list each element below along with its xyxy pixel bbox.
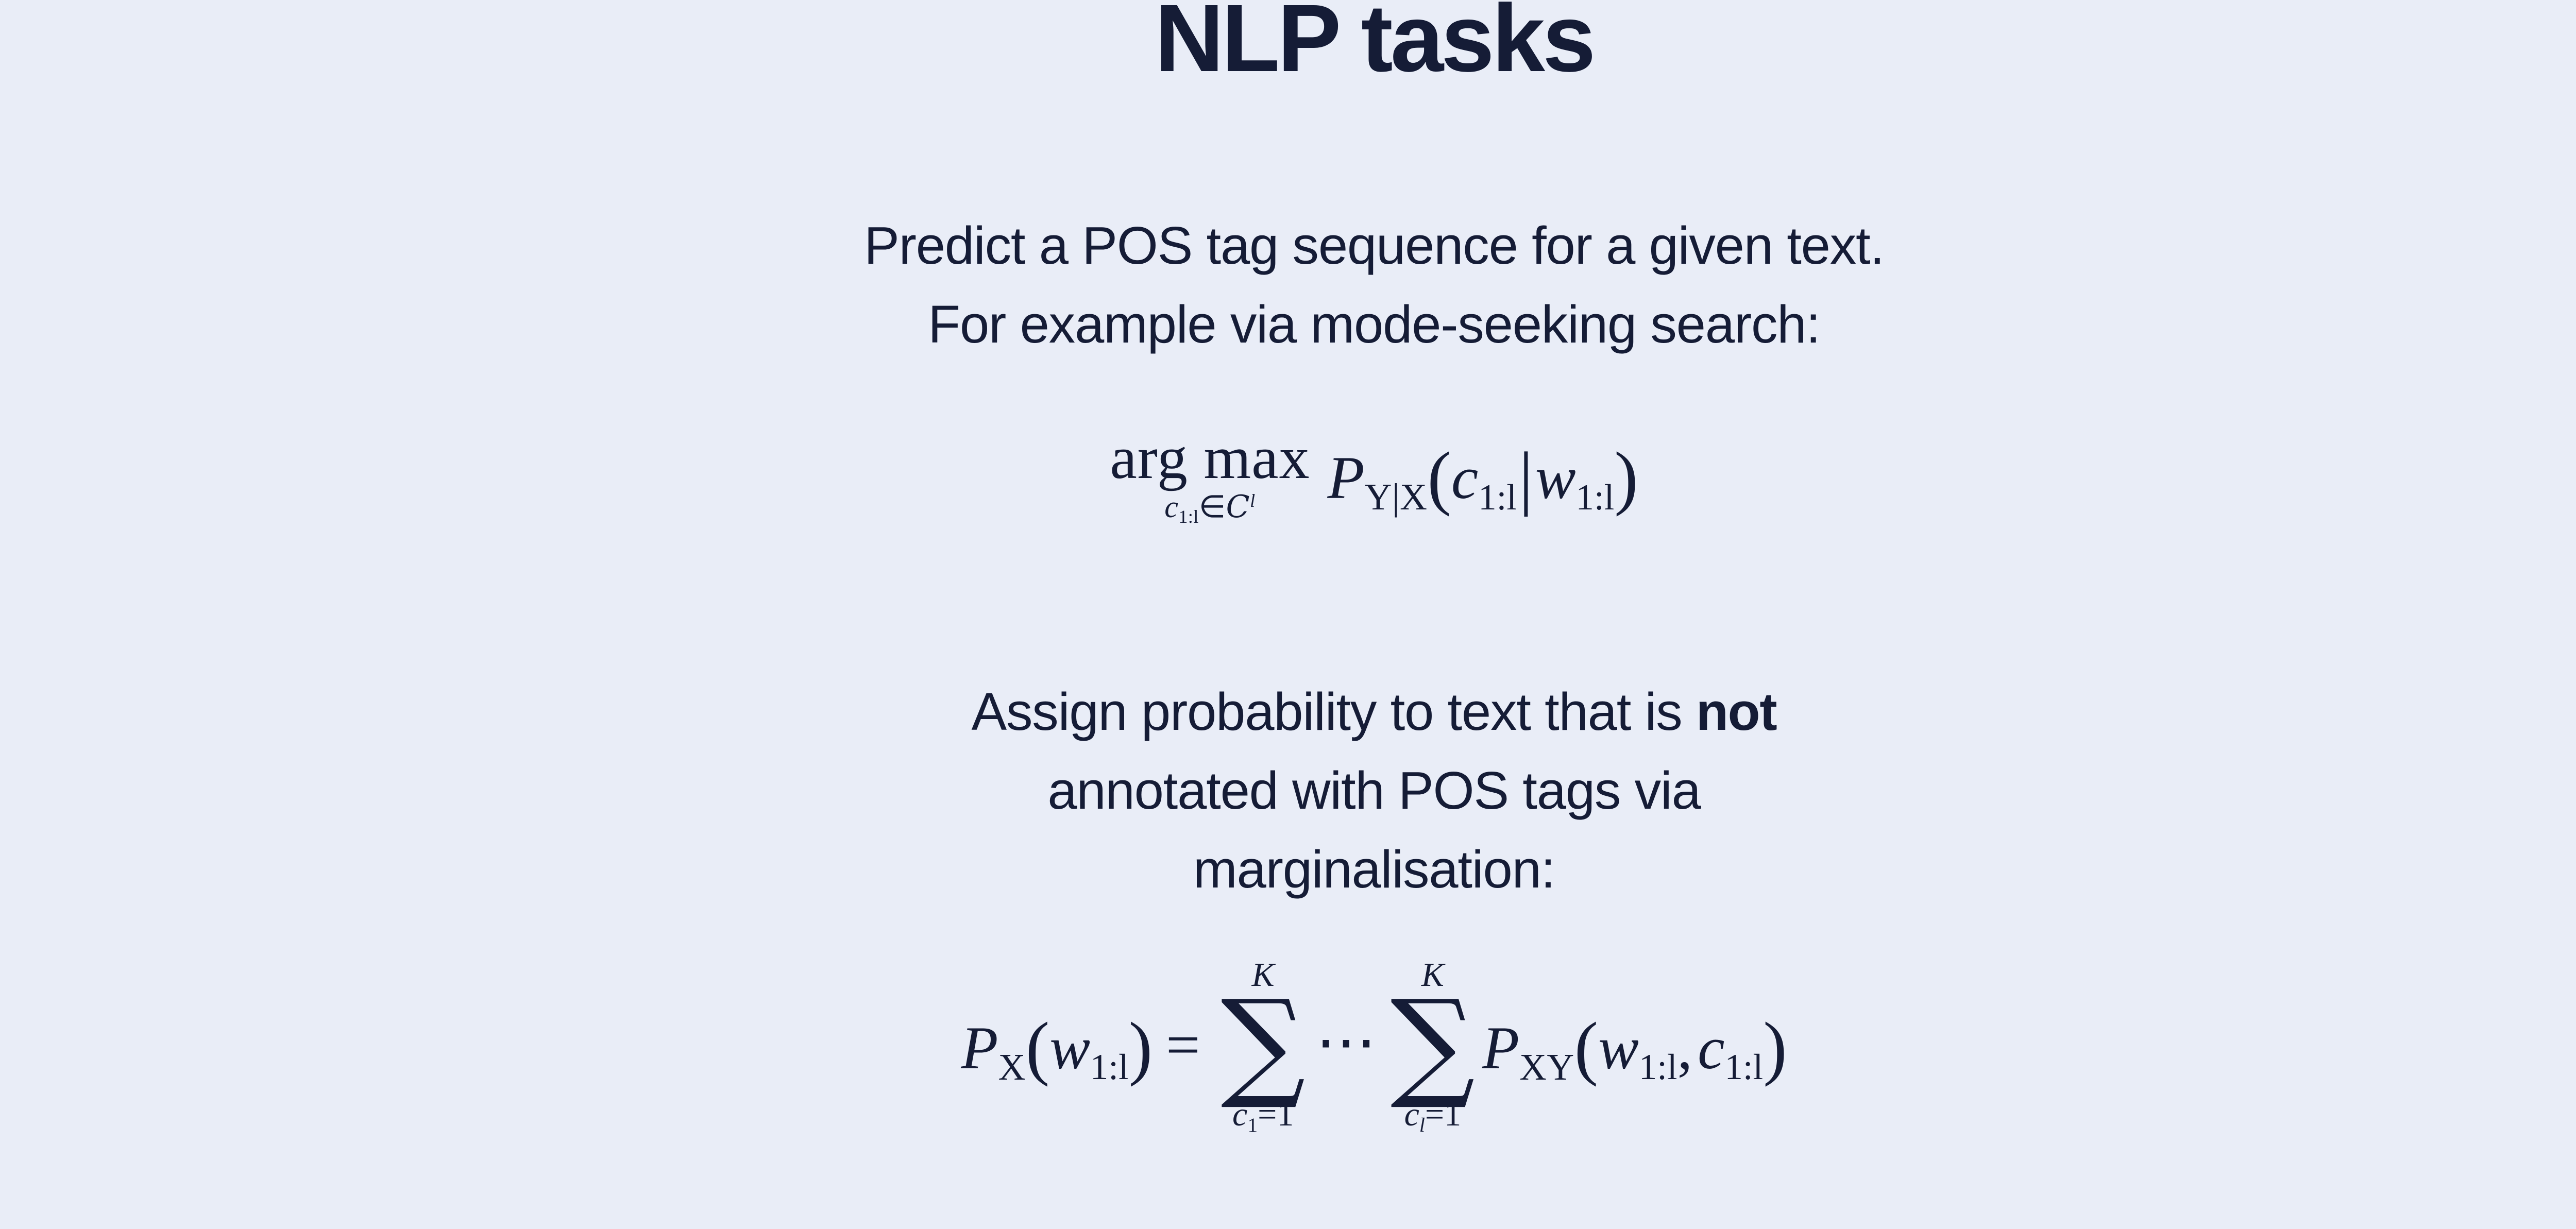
argmax-arg-left-sub: 1:l: [1478, 480, 1517, 516]
argmax-close-paren: ): [1614, 442, 1638, 514]
marginalisation-paragraph: Assign probability to text that is not a…: [0, 672, 2576, 909]
argmax-prob-symbol: P: [1328, 448, 1365, 508]
summation-last-lower-var: c: [1404, 1096, 1419, 1133]
argmax-sub-member-icon: ∈: [1199, 490, 1226, 524]
marginal-lhs-symbol: P: [961, 1018, 998, 1079]
intro-line-2: For example via mode-seeking search:: [0, 285, 2576, 364]
argmax-prob-sub-left: Y: [1365, 476, 1392, 518]
argmax-arg-right-sub: 1:l: [1576, 480, 1615, 516]
summation-last-lower-index: l: [1419, 1114, 1425, 1136]
marginal-rhs-subscript: XY: [1519, 1048, 1574, 1086]
argmax-prob-subscript: Y|X: [1365, 478, 1428, 516]
argmax-open-paren: (: [1427, 442, 1451, 514]
marginal-rhs-var1: w: [1598, 1018, 1639, 1079]
argmax-arg-right-var: w: [1535, 448, 1576, 508]
marginal-line-1-text: Assign probability to text that is: [972, 682, 1696, 741]
marginal-rhs-term: PXY(w1:l,c1:l): [1482, 1009, 1787, 1081]
argmax-prob-sub-right: X: [1400, 476, 1427, 518]
marginal-line-1: Assign probability to text that is not: [0, 672, 2576, 751]
marginal-lhs-var: w: [1049, 1018, 1090, 1079]
marginal-line-2: annotated with POS tags via: [0, 751, 2576, 830]
sigma-icon: ∑: [1391, 994, 1475, 1094]
equation-marginal-row: PX(w1:l) = K ∑ c1=1 ⋯ K ∑ cl=1 PXY(w1:l,…: [961, 958, 1787, 1132]
equation-argmax: arg max c1:l∈Cl PY|X(c1:l|w1:l): [0, 428, 2576, 522]
argmax-conditional-bar: |: [1517, 442, 1535, 514]
summation-last-lower-equals: =1: [1425, 1096, 1461, 1133]
marginal-lhs-var-sub: 1:l: [1090, 1049, 1129, 1086]
argmax-probability-term: PY|X(c1:l|w1:l): [1328, 439, 1638, 510]
argmax-label: arg max: [1110, 428, 1310, 488]
marginal-rhs-open-paren: (: [1574, 1012, 1598, 1084]
marginal-equals-sign: =: [1153, 1015, 1214, 1076]
summation-first-lower-var: c: [1232, 1096, 1247, 1133]
marginal-lhs-close-paren: ): [1129, 1012, 1153, 1084]
marginal-rhs-symbol: P: [1482, 1018, 1519, 1079]
summation-first-lower-index: 1: [1247, 1114, 1258, 1136]
marginal-lhs-term: PX(w1:l): [961, 1009, 1153, 1081]
intro-line-1: Predict a POS tag sequence for a given t…: [0, 206, 2576, 285]
summation-first-lower-limit: c1=1: [1232, 1098, 1294, 1132]
marginal-rhs-comma: ,: [1677, 1018, 1698, 1079]
argmax-sub-var-index: 1:l: [1178, 506, 1199, 527]
marginal-rhs-close-paren: ): [1763, 1012, 1787, 1084]
marginal-lhs-open-paren: (: [1026, 1012, 1049, 1084]
marginal-line-3: marginalisation:: [0, 830, 2576, 909]
ellipsis-icon: ⋯: [1313, 1012, 1383, 1073]
summation-last-lower-limit: cl=1: [1404, 1098, 1462, 1132]
argmax-sub-var: c: [1164, 490, 1178, 524]
slide-canvas: NLP tasks Predict a POS tag sequence for…: [0, 0, 2576, 1229]
sigma-icon: ∑: [1221, 994, 1306, 1094]
argmax-prob-sub-bar: |: [1392, 476, 1400, 518]
marginal-rhs-var2: c: [1698, 1018, 1724, 1079]
summation-last: K ∑ cl=1: [1391, 958, 1475, 1132]
argmax-sub-set: C: [1226, 489, 1250, 525]
page-title: NLP tasks: [0, 0, 2576, 87]
argmax-operator: arg max c1:l∈Cl: [1110, 428, 1310, 522]
equation-argmax-row: arg max c1:l∈Cl PY|X(c1:l|w1:l): [1110, 428, 1638, 522]
argmax-sub-set-exponent: l: [1250, 490, 1256, 511]
marginal-emphasis-not: not: [1696, 682, 1777, 741]
argmax-arg-left-var: c: [1451, 448, 1478, 508]
summation-first-lower-equals: =1: [1258, 1096, 1294, 1133]
marginal-rhs-var2-sub: 1:l: [1724, 1049, 1763, 1086]
equation-marginalisation: PX(w1:l) = K ∑ c1=1 ⋯ K ∑ cl=1 PXY(w1:l,…: [0, 958, 2576, 1132]
marginal-lhs-subscript: X: [998, 1048, 1025, 1086]
argmax-subscript: c1:l∈Cl: [1164, 491, 1255, 522]
summation-first: K ∑ c1=1: [1221, 958, 1306, 1132]
intro-paragraph: Predict a POS tag sequence for a given t…: [0, 206, 2576, 364]
marginal-rhs-var1-sub: 1:l: [1639, 1049, 1677, 1086]
